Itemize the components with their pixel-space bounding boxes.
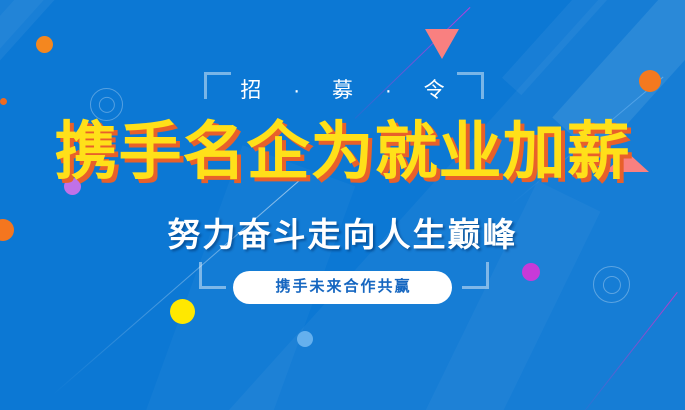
eyebrow-text: 招 · 募 · 令 (0, 74, 685, 104)
headline-text: 携手名企为就业加薪 (0, 121, 685, 184)
recruitment-banner: 招 · 募 · 令 携手名企为就业加薪 努力奋斗走向人生巅峰 携手未来合作共赢 (0, 0, 685, 410)
pink-triangle-down-top (425, 29, 459, 59)
light-blue-dot-bottom (297, 331, 313, 347)
purple-diagonal-hairline-bottom (585, 292, 678, 410)
diagonal-light-panel-bottom-right (223, 0, 685, 410)
cta-container: 携手未来合作共赢 (0, 271, 685, 304)
cta-button[interactable]: 携手未来合作共赢 (233, 271, 451, 304)
orange-dot-top-left (36, 36, 53, 53)
subheadline-text: 努力奋斗走向人生巅峰 (0, 208, 685, 256)
